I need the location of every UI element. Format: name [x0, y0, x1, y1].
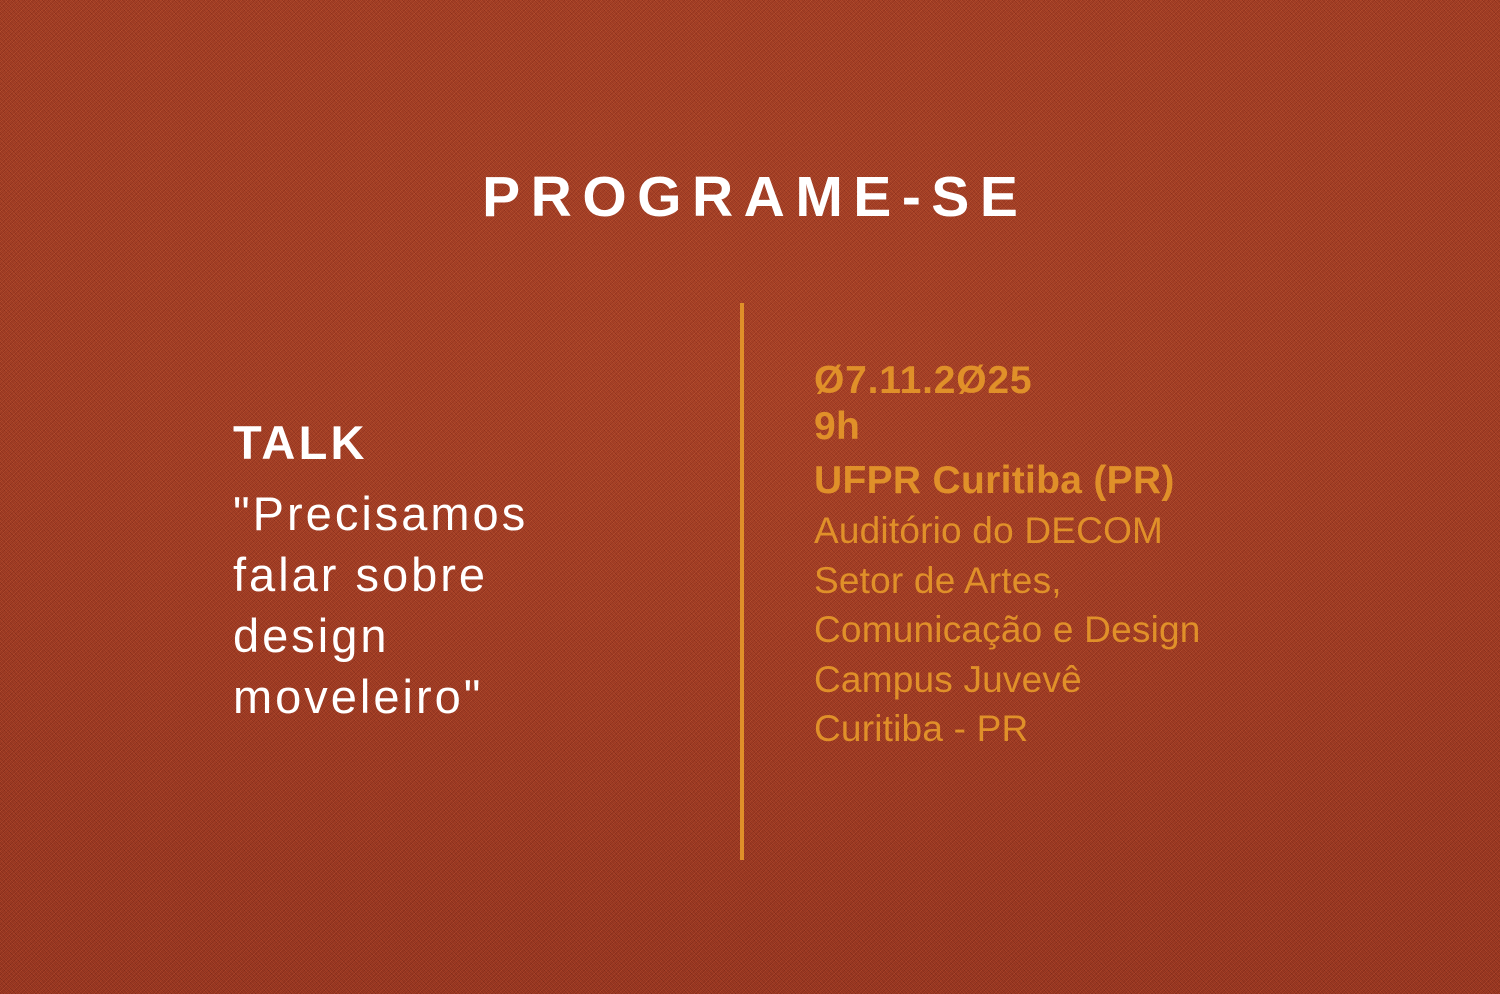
vertical-divider [740, 303, 744, 860]
event-details-block: Ø7.11.2Ø25 9h UFPR Curitiba (PR) Auditór… [814, 358, 1334, 754]
talk-kicker-label: TALK [233, 418, 703, 469]
event-time: 9h [814, 404, 1334, 450]
event-poster: PROGRAME-SE TALK "Precisamos falar sobre… [0, 0, 1500, 994]
event-address: Auditório do DECOM Setor de Artes, Comun… [814, 506, 1334, 754]
event-venue: UFPR Curitiba (PR) [814, 458, 1334, 504]
poster-content: PROGRAME-SE TALK "Precisamos falar sobre… [0, 0, 1500, 994]
page-title: PROGRAME-SE [0, 169, 1500, 226]
talk-title: "Precisamos falar sobre design moveleiro… [233, 483, 703, 727]
event-date: Ø7.11.2Ø25 [814, 358, 1334, 404]
talk-block: TALK "Precisamos falar sobre design move… [233, 418, 703, 727]
